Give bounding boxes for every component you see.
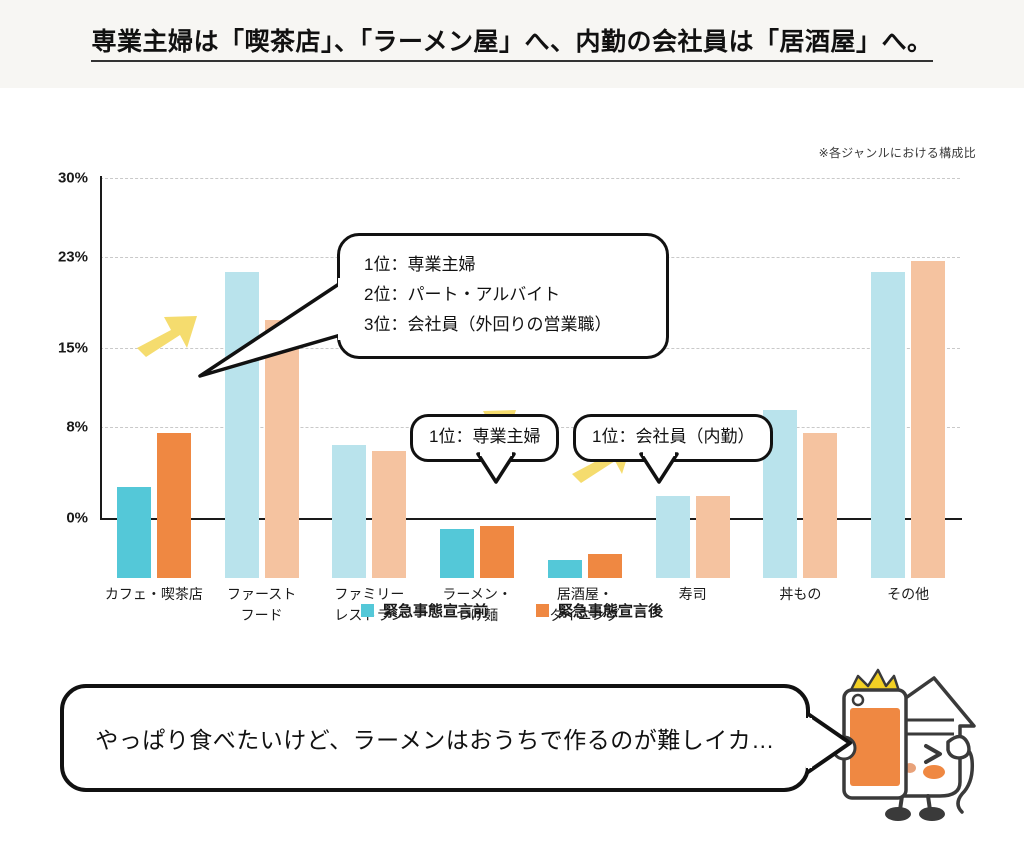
legend-label-after: 緊急事態宣言後	[558, 603, 663, 620]
bar-after	[588, 554, 622, 578]
bar-after	[372, 451, 406, 578]
bar-before	[656, 496, 690, 578]
cafe-callout-line-3: 3位：会社員（外回りの営業職）	[364, 310, 654, 340]
speech-bubble-text: やっぱり食べたいけど、ラーメンはおうちで作るのが難しイカ…	[60, 684, 810, 792]
header-banner: 専業主婦は「喫茶店」、「ラーメン屋」へ、内勤の会社員は「居酒屋」へ。	[0, 0, 1024, 88]
legend-item-after: 緊急事態宣言後	[536, 600, 663, 621]
bar-after	[696, 496, 730, 578]
bar-after	[803, 433, 837, 578]
chart-legend: 緊急事態宣言前緊急事態宣言後	[0, 600, 1024, 621]
y-axis-ticks: 0%8%15%23%30%	[30, 178, 88, 518]
bar-before	[548, 560, 582, 578]
legend-label-before: 緊急事態宣言前	[383, 603, 488, 620]
y-tick-label: 15%	[58, 340, 88, 357]
chart-note: ※各ジャンルにおける構成比	[819, 144, 976, 161]
y-tick-label: 23%	[58, 249, 88, 266]
speech-bubble-tail	[806, 712, 856, 774]
ramen-callout-text: 1位：専業主婦	[429, 427, 540, 446]
legend-swatch-before	[361, 604, 374, 617]
page-title-text: 専業主婦は「喫茶店」、「ラーメン屋」へ、内勤の会社員は「居酒屋」へ。	[91, 28, 932, 62]
bar-after	[480, 526, 514, 578]
bar-group: カフェ・喫茶店	[113, 238, 195, 578]
bar-before	[440, 529, 474, 578]
cafe-callout-line-2: 2位：パート・アルバイト	[364, 280, 654, 310]
bar-after	[157, 433, 191, 578]
y-tick-label: 30%	[58, 170, 88, 187]
cafe-callout-tail	[192, 248, 362, 378]
ramen-callout-tail	[476, 452, 516, 486]
legend-swatch-after	[536, 604, 549, 617]
izakaya-callout-text: 1位：会社員（内勤）	[592, 427, 754, 446]
izakaya-callout-tail	[639, 452, 679, 486]
y-tick-label: 8%	[66, 419, 88, 436]
bar-before	[117, 487, 151, 578]
page-title: 専業主婦は「喫茶店」、「ラーメン屋」へ、内勤の会社員は「居酒屋」へ。	[0, 22, 1024, 58]
bar-group: 丼もの	[759, 238, 841, 578]
y-tick-label: 0%	[66, 510, 88, 527]
legend-item-before: 緊急事態宣言前	[361, 600, 488, 621]
bar-group: その他	[867, 238, 949, 578]
chart-container: ※各ジャンルにおける構成比 0%8%15%23%30% カフェ・喫茶店ファースト…	[0, 88, 1024, 648]
bar-before	[332, 445, 366, 578]
bar-before	[871, 272, 905, 578]
cafe-callout: 1位：専業主婦 2位：パート・アルバイト 3位：会社員（外回りの営業職）	[337, 233, 669, 359]
bar-after	[911, 261, 945, 578]
cafe-callout-line-1: 1位：専業主婦	[364, 250, 654, 280]
